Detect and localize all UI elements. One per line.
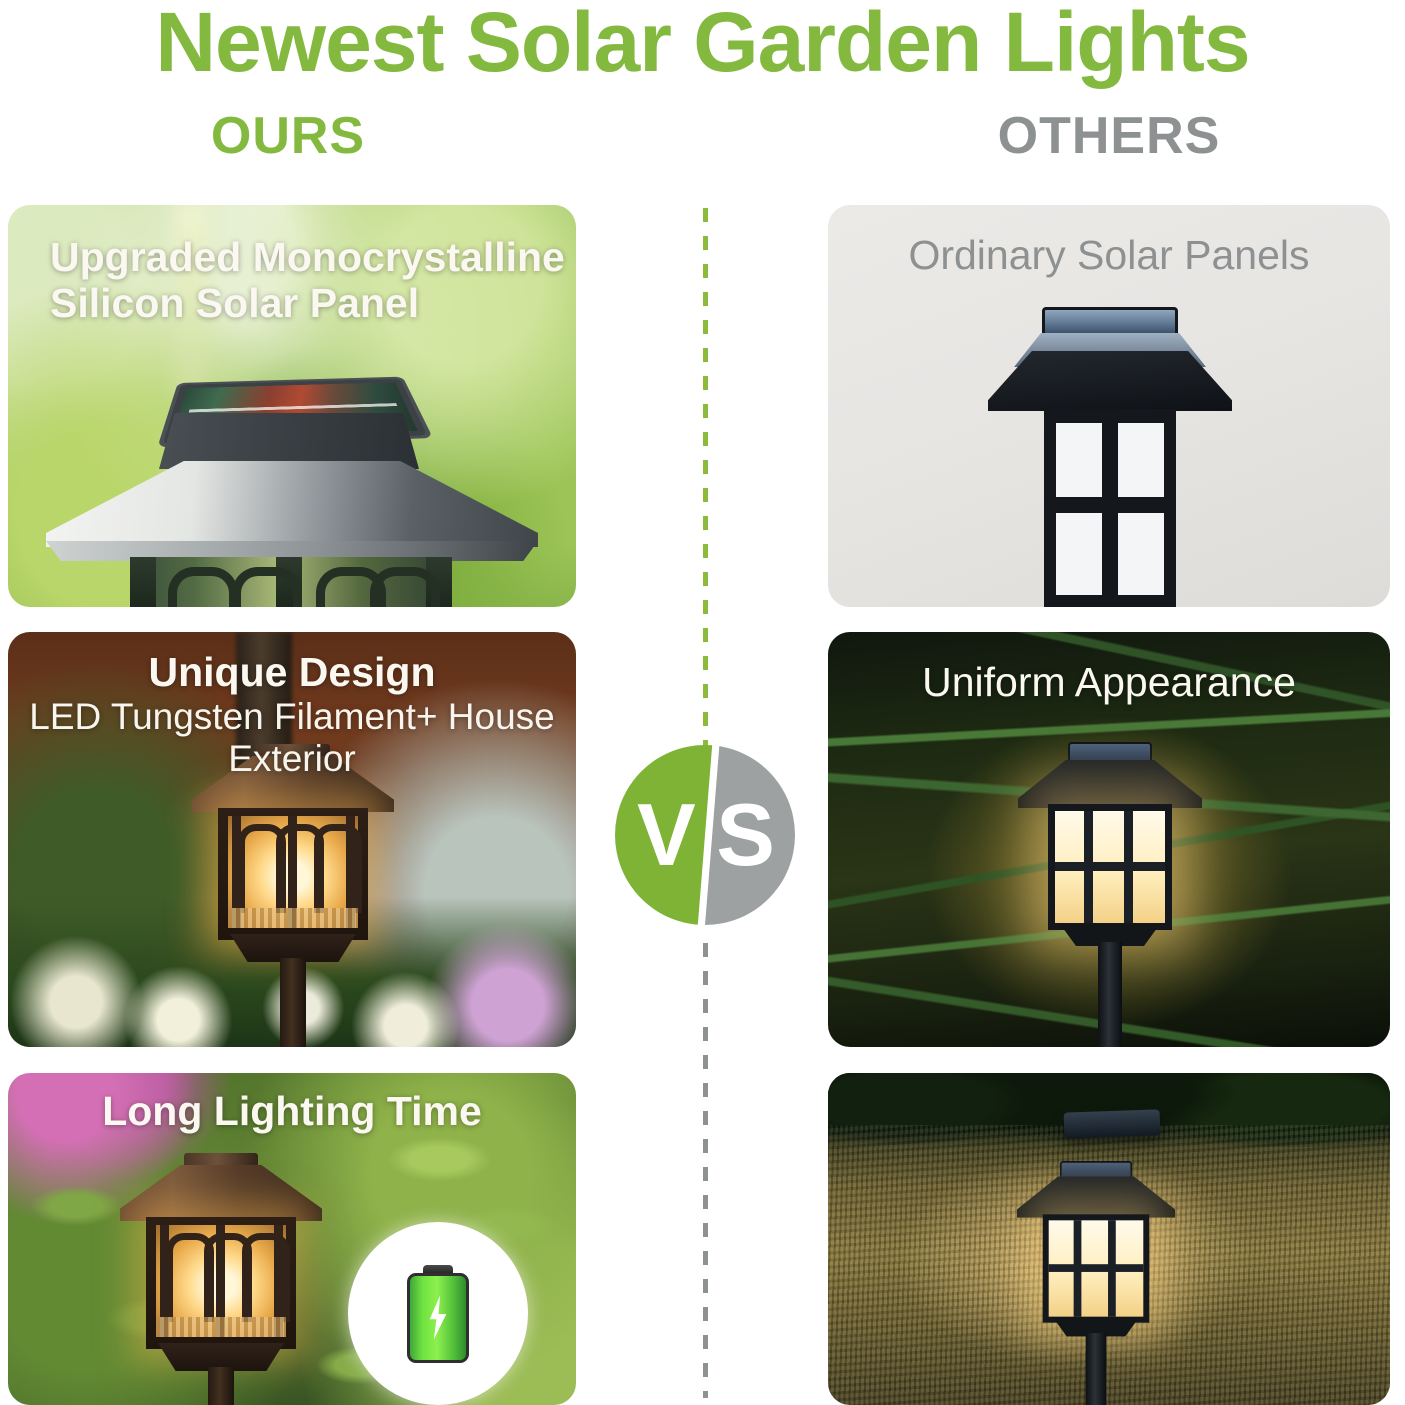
lantern-glass-box [1048,804,1172,930]
lantern-pane-bl [1056,513,1102,595]
lantern-pole [280,958,306,1047]
battery-charging-icon [407,1265,469,1363]
lantern-roof [988,351,1232,411]
lightning-bolt-icon [425,1296,451,1340]
caption-line-1: Long Lighting Time [18,1089,566,1135]
ours-panel-design[interactable]: Unique Design LED Tungsten Filament+ Hou… [8,632,576,1047]
lantern-glass-box [1043,1214,1150,1322]
lantern-arch-1 [168,567,238,607]
grid-lantern-image [1010,1161,1182,1367]
caption-line-1: Upgraded Monocrystalline [50,235,566,281]
lantern-glass-box [146,1217,296,1349]
grid-lantern-image [1010,742,1210,982]
ours-panel-solar-caption: Upgraded Monocrystalline Silicon Solar P… [8,235,576,327]
battery-body [407,1273,469,1363]
lantern-pane-br [1118,513,1164,595]
lantern-body [1044,409,1176,607]
caption-line-1: Ordinary Solar Panels [838,233,1380,279]
others-panel-solar-caption: Ordinary Solar Panels [828,233,1390,279]
lantern-arch-4 [370,567,440,607]
column-label-ours: OURS [0,110,576,162]
others-panel-lawn[interactable] [828,1073,1390,1405]
ours-panel-design-caption: Unique Design LED Tungsten Filament+ Hou… [8,650,576,780]
lantern-collar [159,413,419,469]
solar-lantern-head-image [26,353,556,607]
lantern-roof [1018,760,1202,808]
ordinary-lantern-image [960,307,1260,607]
vs-letter-v: V [637,791,696,879]
lantern-pane-tl [1056,423,1102,497]
lantern-glass-box [218,808,368,940]
lantern-mullion-vertical [1104,419,1117,607]
lantern-pane-tr [1118,423,1164,497]
lantern-pole [1086,1333,1107,1405]
lantern-roof [1017,1176,1175,1217]
others-panel-uniform[interactable]: Uniform Appearance [828,632,1390,1047]
lantern-mullion-horizontal [1054,499,1166,511]
lantern-roof [120,1165,322,1221]
page-title: Newest Solar Garden Lights [0,0,1405,88]
divider-segment-upper [703,208,708,763]
caption-line-1: Unique Design [18,650,566,696]
others-panel-uniform-caption: Uniform Appearance [828,660,1390,706]
battery-charging-badge [348,1222,528,1405]
comparison-infographic: Newest Solar Garden Lights OURS OTHERS V… [0,0,1405,1405]
vs-badge: V S [615,745,795,925]
distant-lantern [1064,1109,1161,1138]
lantern-pole [208,1367,234,1405]
vs-letter-s: S [716,791,775,879]
ours-panel-solar[interactable]: Upgraded Monocrystalline Silicon Solar P… [8,205,576,607]
others-panel-solar[interactable]: Ordinary Solar Panels [828,205,1390,607]
lantern-arch-2 [232,567,302,607]
divider-segment-lower [703,943,708,1398]
warm-lantern-image [116,1153,326,1391]
caption-line-1: Uniform Appearance [838,660,1380,706]
column-label-others: OTHERS [828,110,1390,162]
lantern-sill [228,908,358,928]
caption-line-2: LED Tungsten Filament+ House Exterior [18,696,566,780]
lantern-pole [1098,942,1122,1047]
ours-panel-lighting-time-caption: Long Lighting Time [8,1089,576,1135]
caption-line-2: Silicon Solar Panel [50,281,566,327]
lantern-pillar-left [130,557,156,607]
lantern-sill [156,1317,286,1337]
lantern-mullion-h1 [1049,1264,1144,1272]
lantern-mullion-h1 [1055,862,1165,871]
